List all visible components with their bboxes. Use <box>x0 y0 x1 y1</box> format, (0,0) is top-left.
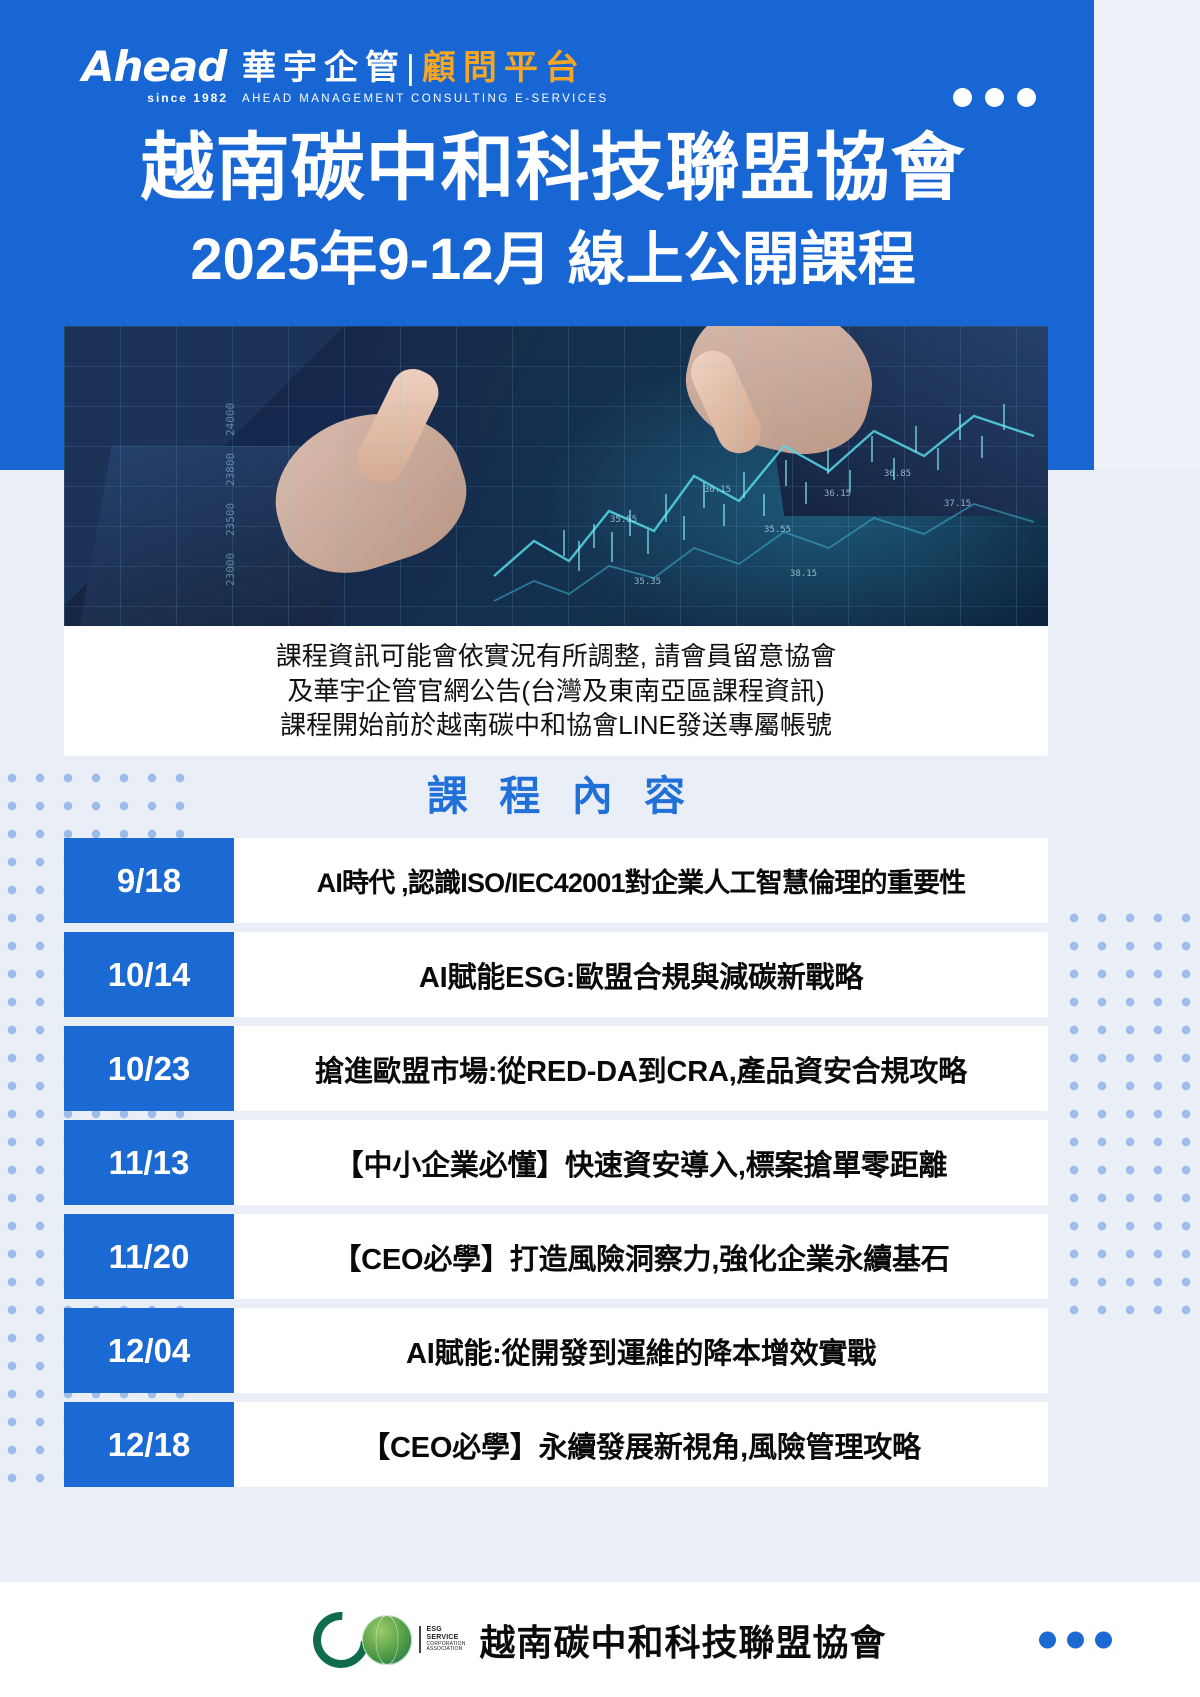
footer-dot-icon <box>1095 1631 1112 1648</box>
brand-cn-separator: | <box>406 49 422 87</box>
svg-text:38.15: 38.15 <box>790 569 817 579</box>
svg-text:37.15: 37.15 <box>944 499 971 509</box>
brand-chinese-block: 華宇企管|顧問平台 AHEAD MANAGEMENT CONSULTING E-… <box>242 51 609 106</box>
course-topic: AI時代 ,認識ISO/IEC42001對企業人工智慧倫理的重要性 <box>234 838 1048 923</box>
svg-text:23500: 23500 <box>224 503 237 536</box>
footer-dot-icon <box>1067 1631 1084 1648</box>
svg-text:35.55: 35.55 <box>610 515 637 525</box>
ahead-since-label: since 1982 <box>82 91 228 105</box>
course-list: 9/18 AI時代 ,認識ISO/IEC42001對企業人工智慧倫理的重要性 1… <box>64 838 1048 1496</box>
footer-bar: ESG SERVICE CORPORATION ASSOCIATION 越南碳中… <box>0 1582 1200 1697</box>
notice-line-2: 及華宇企管官網公告(台灣及東南亞區課程資訊) <box>287 674 824 709</box>
course-topic: 【中小企業必懂】快速資安導入,標案搶單零距離 <box>234 1120 1048 1205</box>
svg-text:36.85: 36.85 <box>884 469 911 479</box>
brand-chinese-title: 華宇企管|顧問平台 <box>242 51 609 85</box>
svg-text:35.55: 35.55 <box>764 525 791 535</box>
ahead-logo-mark: Ahead since 1982 <box>82 46 228 105</box>
notice-box: 課程資訊可能會依實況有所調整, 請會員留意協會 及華宇企管官網公告(台灣及東南亞… <box>64 626 1048 756</box>
hero-side-notch <box>1094 0 1200 470</box>
logo-text-esg: ESG <box>426 1626 465 1634</box>
svg-text:23000: 23000 <box>224 553 237 586</box>
course-date: 12/04 <box>64 1308 234 1393</box>
decorative-dots-right <box>1056 900 1200 1320</box>
page-title: 越南碳中和科技聯盟協會 <box>0 128 1106 208</box>
association-logo-text: ESG SERVICE CORPORATION ASSOCIATION <box>419 1626 465 1653</box>
hero-photo: 35.5536.15 35.5536.15 36.8537.15 35.3538… <box>64 326 1048 626</box>
course-row[interactable]: 12/04 AI賦能:從開發到運維的降本增效實戰 <box>64 1308 1048 1393</box>
globe-icon <box>362 1615 412 1665</box>
brand-cn-orange: 顧問平台 <box>422 49 586 87</box>
svg-text:36.15: 36.15 <box>824 489 851 499</box>
course-topic: 【CEO必學】永續發展新視角,風險管理攻略 <box>234 1402 1048 1487</box>
photo-chart-lines: 35.5536.15 35.5536.15 36.8537.15 35.3538… <box>64 326 1048 626</box>
course-row[interactable]: 10/14 AI賦能ESG:歐盟合規與減碳新戰略 <box>64 932 1048 1017</box>
footer-content: ESG SERVICE CORPORATION ASSOCIATION 越南碳中… <box>0 1582 1200 1697</box>
course-topic: 搶進歐盟市場:從RED-DA到CRA,產品資安合規攻略 <box>234 1026 1048 1111</box>
brand-logo[interactable]: Ahead since 1982 華宇企管|顧問平台 AHEAD MANAGEM… <box>82 46 609 105</box>
course-date: 10/14 <box>64 932 234 1017</box>
ahead-wordmark: Ahead <box>82 46 228 88</box>
association-logo: ESG SERVICE CORPORATION ASSOCIATION <box>313 1612 465 1668</box>
brand-cn-white: 華宇企管 <box>242 49 406 87</box>
course-row[interactable]: 11/13 【中小企業必懂】快速資安導入,標案搶單零距離 <box>64 1120 1048 1205</box>
svg-text:36.15: 36.15 <box>704 485 731 495</box>
course-row[interactable]: 9/18 AI時代 ,認識ISO/IEC42001對企業人工智慧倫理的重要性 <box>64 838 1048 923</box>
footer-dot-icon <box>1039 1631 1056 1648</box>
course-date: 12/18 <box>64 1402 234 1487</box>
section-title: 課 程 內 容 <box>64 762 1048 822</box>
notice-line-3: 課程開始前於越南碳中和協會LINE發送專屬帳號 <box>280 708 832 743</box>
logo-text-association: ASSOCIATION <box>426 1647 465 1653</box>
course-topic: AI賦能ESG:歐盟合規與減碳新戰略 <box>234 932 1048 1017</box>
header-dot-icon <box>985 88 1004 107</box>
course-topic: AI賦能:從開發到運維的降本增效實戰 <box>234 1308 1048 1393</box>
svg-text:35.35: 35.35 <box>634 577 661 587</box>
course-row[interactable]: 10/23 搶進歐盟市場:從RED-DA到CRA,產品資安合規攻略 <box>64 1026 1048 1111</box>
footer-dot-cluster <box>1039 1631 1112 1648</box>
header-dot-icon <box>1017 88 1036 107</box>
course-date: 11/13 <box>64 1120 234 1205</box>
course-date: 9/18 <box>64 838 234 923</box>
course-topic: 【CEO必學】打造風險洞察力,強化企業永續基石 <box>234 1214 1048 1299</box>
course-date: 11/20 <box>64 1214 234 1299</box>
svg-text:23800: 23800 <box>224 453 237 486</box>
footer-org-name: 越南碳中和科技聯盟協會 <box>480 1614 887 1666</box>
header-dot-cluster <box>953 88 1036 107</box>
notice-line-1: 課程資訊可能會依實況有所調整, 請會員留意協會 <box>276 639 836 674</box>
course-row[interactable]: 12/18 【CEO必學】永續發展新視角,風險管理攻略 <box>64 1402 1048 1487</box>
svg-text:24000: 24000 <box>224 403 237 436</box>
header-dot-icon <box>953 88 972 107</box>
page-subtitle: 2025年9-12月 線上公開課程 <box>0 228 1106 292</box>
course-date: 10/23 <box>64 1026 234 1111</box>
course-row[interactable]: 11/20 【CEO必學】打造風險洞察力,強化企業永續基石 <box>64 1214 1048 1299</box>
brand-english-subline: AHEAD MANAGEMENT CONSULTING E-SERVICES <box>242 94 609 106</box>
